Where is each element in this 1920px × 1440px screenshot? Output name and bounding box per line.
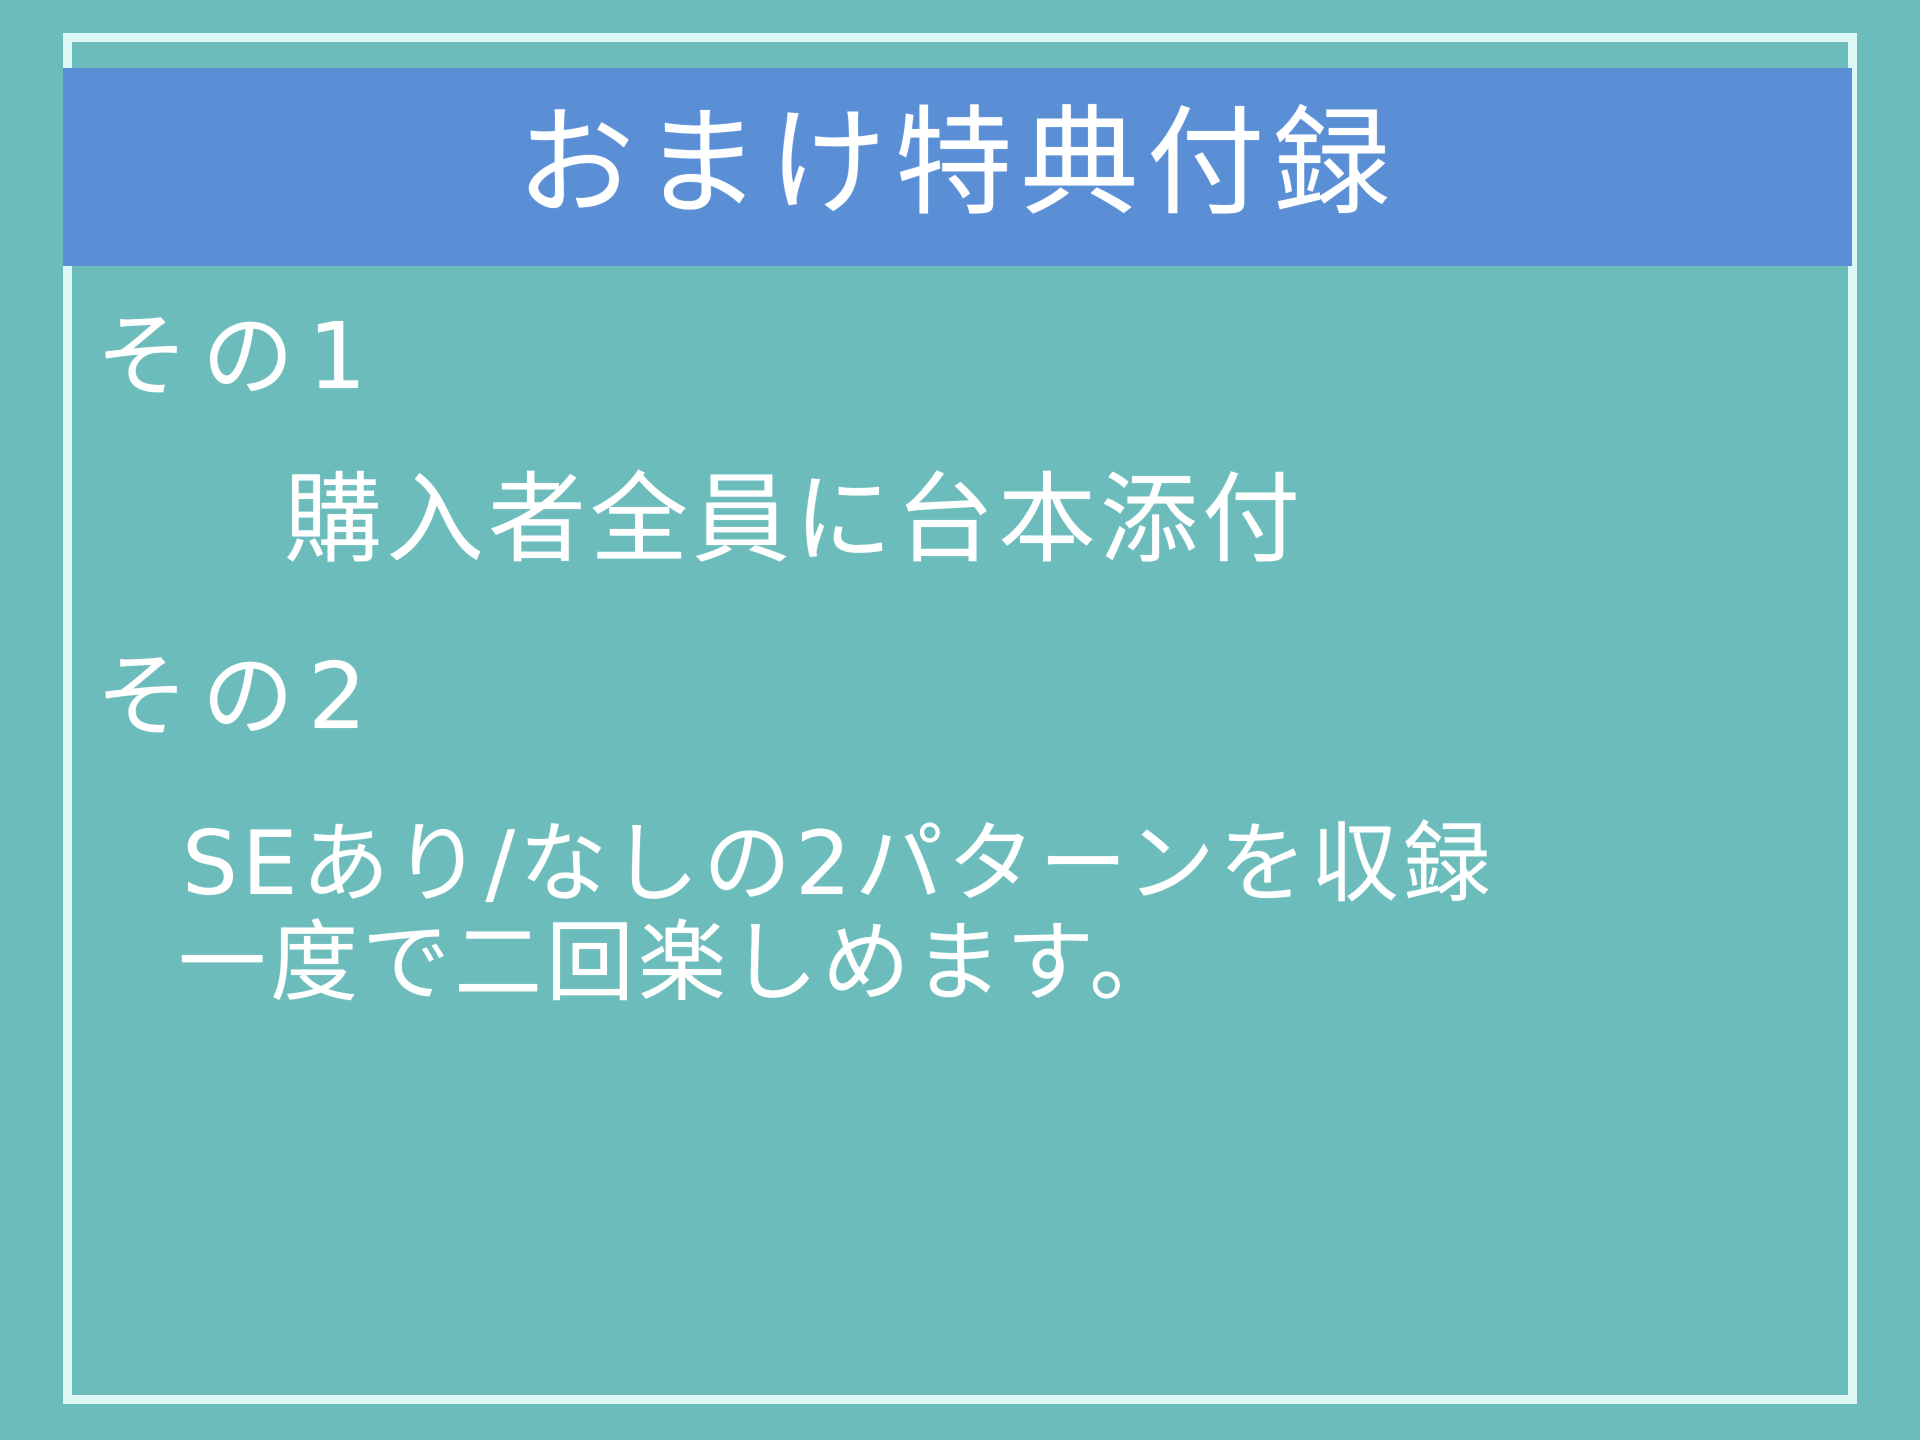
body-content: その1 購入者全員に台本添付 その2 SEあり/なしの2パターンを収録 一度で二… xyxy=(72,276,1848,1395)
benefit-1-line-1: 購入者全員に台本添付 xyxy=(284,463,1304,577)
benefit-section-1: その1 購入者全員に台本添付 xyxy=(72,311,1848,573)
benefit-1-label: その1 xyxy=(72,311,1848,403)
benefit-section-2: その2 SEあり/なしの2パターンを収録 一度で二回楽しめます。 xyxy=(72,651,1848,1012)
benefit-2-label: その2 xyxy=(72,651,1848,743)
benefit-2-body: SEあり/なしの2パターンを収録 一度で二回楽しめます。 xyxy=(72,815,1848,1012)
title-banner: おまけ特典付録 xyxy=(63,68,1852,266)
benefit-2-line-1: SEあり/なしの2パターンを収録 xyxy=(182,815,1848,914)
page-title: おまけ特典付録 xyxy=(516,104,1398,222)
slide-root: おまけ特典付録 その1 購入者全員に台本添付 その2 SEあり/なしの2パターン… xyxy=(0,0,1920,1440)
benefit-2-line-2: 一度で二回楽しめます。 xyxy=(178,914,1848,1013)
benefit-1-body: 購入者全員に台本添付 xyxy=(72,469,1848,573)
